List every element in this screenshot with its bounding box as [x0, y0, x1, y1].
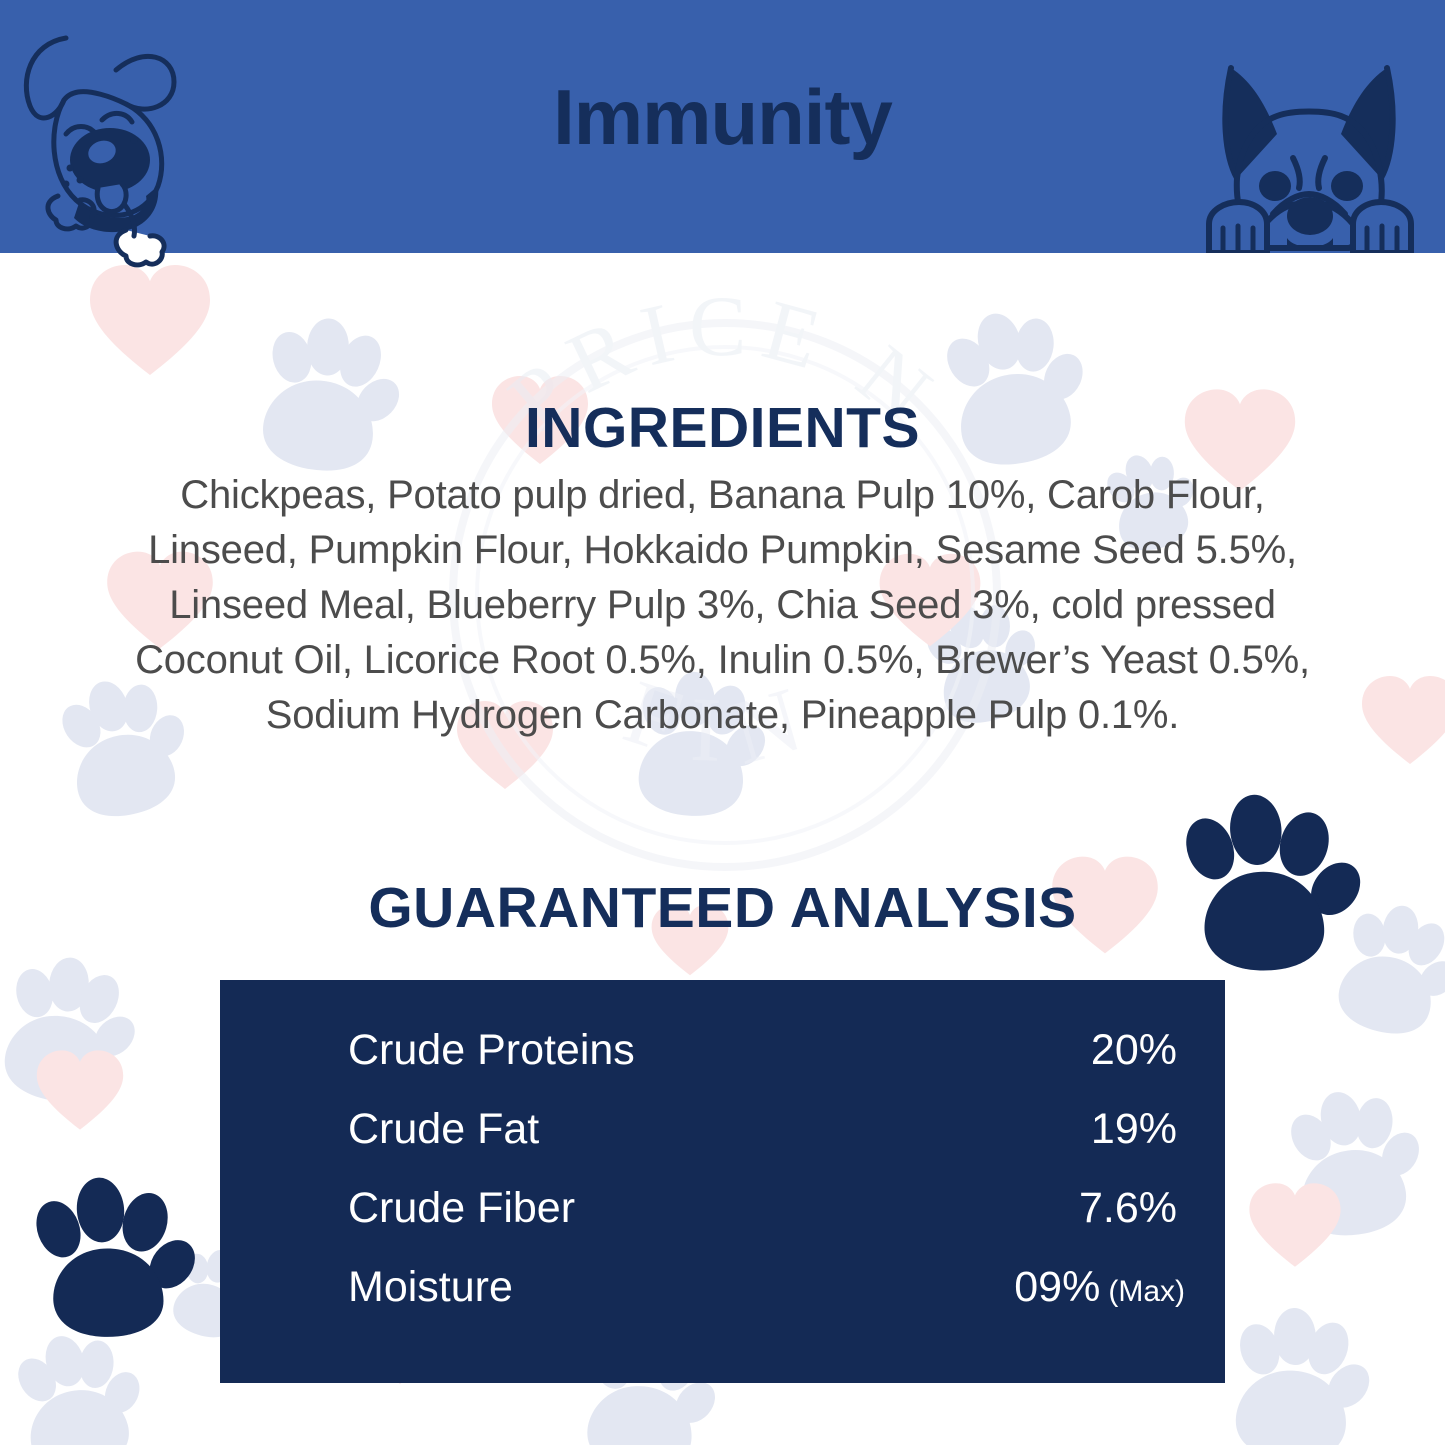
ingredients-line: Sodium Hydrogen Carbonate, Pineapple Pul…	[40, 688, 1405, 743]
analysis-label: Crude Proteins	[348, 1026, 635, 1075]
page-header: Immunity	[0, 0, 1445, 253]
ingredients-line: Linseed, Pumpkin Flour, Hokkaido Pumpkin…	[40, 523, 1405, 578]
ingredients-line: Coconut Oil, Licorice Root 0.5%, Inulin …	[40, 633, 1405, 688]
analysis-note: (Max)	[1108, 1275, 1185, 1309]
analysis-row: Crude Proteins 20%	[220, 1026, 1225, 1105]
guaranteed-analysis-table: Crude Proteins 20% Crude Fat 19% Crude F…	[220, 980, 1225, 1383]
ingredients-line: Linseed Meal, Blueberry Pulp 3%, Chia Se…	[40, 578, 1405, 633]
analysis-value: 19%	[1091, 1105, 1177, 1154]
analysis-row: Crude Fat 19%	[220, 1105, 1225, 1184]
analysis-label: Crude Fat	[348, 1105, 539, 1154]
paw-print-icon	[27, 1168, 202, 1343]
analysis-row: Moisture 09% (Max)	[220, 1263, 1225, 1342]
ingredients-text: Chickpeas, Potato pulp dried, Banana Pul…	[40, 468, 1405, 743]
paw-print-icon	[1176, 790, 1366, 980]
analysis-row: Crude Fiber 7.6%	[220, 1184, 1225, 1263]
analysis-value: 09%	[1014, 1263, 1100, 1312]
analysis-value: 20%	[1091, 1026, 1177, 1075]
ingredients-heading: INGREDIENTS	[0, 395, 1445, 461]
analysis-value: 7.6%	[1079, 1184, 1177, 1233]
page-title: Immunity	[0, 78, 1445, 156]
analysis-label: Moisture	[348, 1263, 513, 1312]
analysis-label: Crude Fiber	[348, 1184, 575, 1233]
ingredients-line: Chickpeas, Potato pulp dried, Banana Pul…	[40, 468, 1405, 523]
